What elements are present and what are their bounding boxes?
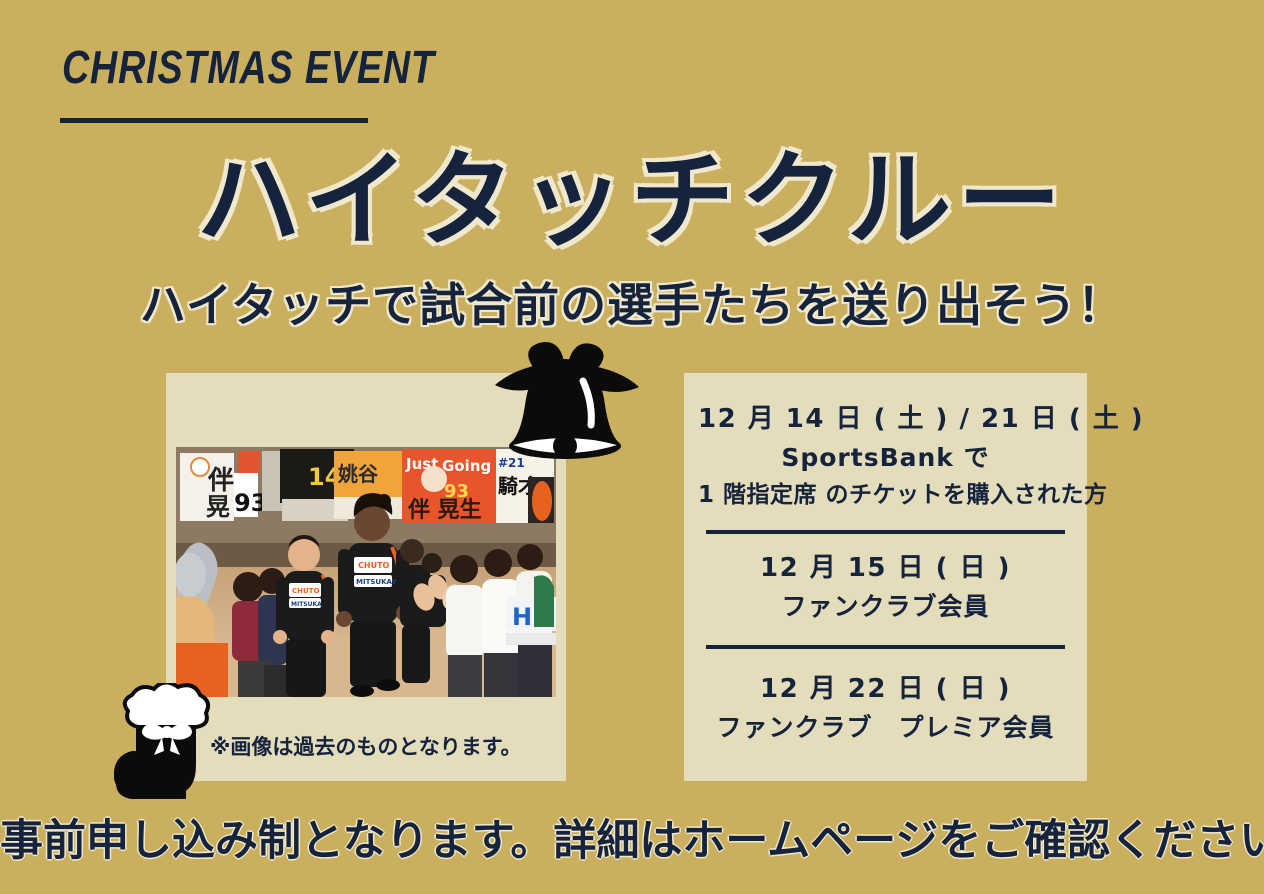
svg-text:H: H — [512, 603, 532, 631]
info-block-1-date: 12 月 14 日 ( 土 ) / 21 日 ( 土 ) — [698, 399, 1073, 439]
eyebrow-wrapper: CHRISTMAS EVENT — [62, 44, 517, 90]
info-block-3-condition: ファンクラブ プレミア会員 — [698, 709, 1073, 748]
christmas-bell-icon — [487, 333, 642, 468]
info-block-2-date: 12 月 15 日 ( 日 ) — [698, 548, 1073, 588]
page-subtitle: ハイタッチで試合前の選手たちを送り出そう！ — [0, 280, 1264, 331]
footer-note: 事前申し込み制となります。詳細はホームページをご確認ください。 — [0, 806, 1264, 868]
info-block-3-date: 12 月 22 日 ( 日 ) — [698, 669, 1073, 709]
info-block-1: 12 月 14 日 ( 土 ) / 21 日 ( 土 ) SportsBank … — [698, 399, 1073, 514]
event-photo-illustration: 伴 晃 93 14 姚谷 Just Going 93 伴 晃生 #21 — [176, 447, 556, 697]
poster-root: CHRISTMAS EVENT ハイタッチクルー ハイタッチで試合前の選手たちを… — [0, 0, 1264, 894]
eyebrow-underline — [60, 118, 368, 123]
info-panel: 12 月 14 日 ( 土 ) / 21 日 ( 土 ) SportsBank … — [684, 373, 1087, 781]
event-photo: 伴 晃 93 14 姚谷 Just Going 93 伴 晃生 #21 — [176, 447, 556, 697]
info-block-3: 12 月 22 日 ( 日 ) ファンクラブ プレミア会員 — [698, 669, 1073, 748]
info-divider-1 — [706, 530, 1065, 534]
info-divider-2 — [706, 645, 1065, 649]
page-title: ハイタッチクルー — [0, 146, 1264, 255]
svg-text:晃: 晃 — [206, 493, 230, 521]
svg-text:Going: Going — [442, 457, 491, 475]
svg-text:伴: 伴 — [207, 466, 234, 496]
christmas-stocking-icon — [114, 683, 224, 818]
eyebrow-label: CHRISTMAS EVENT — [62, 44, 435, 90]
photo-caption: ※画像は過去のものとなります。 — [210, 731, 522, 761]
svg-text:伴 晃生: 伴 晃生 — [407, 498, 482, 523]
info-block-1-venue: SportsBank で — [698, 439, 1073, 478]
info-block-2: 12 月 15 日 ( 日 ) ファンクラブ会員 — [698, 548, 1073, 627]
svg-text:CHUTO: CHUTO — [292, 587, 319, 595]
svg-text:姚谷: 姚谷 — [337, 462, 379, 486]
info-block-1-condition: 1 階指定席 のチケットを購入された方 — [698, 478, 1073, 514]
info-block-2-condition: ファンクラブ会員 — [698, 588, 1073, 627]
svg-text:CHUTO: CHUTO — [358, 561, 390, 570]
